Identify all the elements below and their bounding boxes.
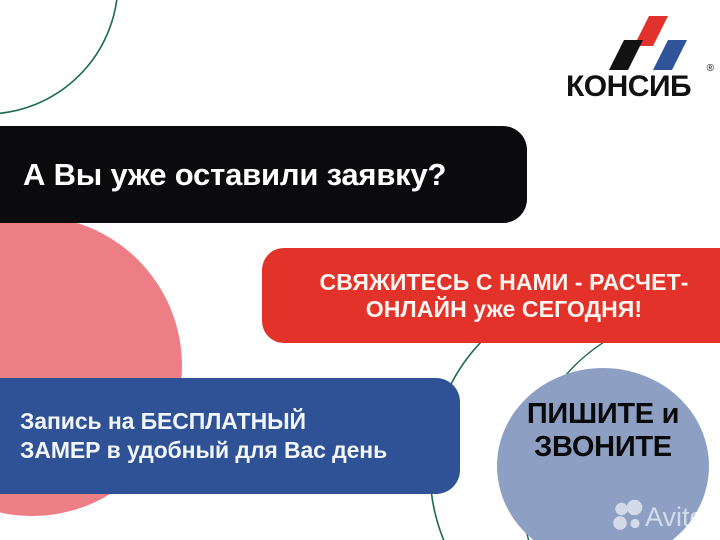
free-measurement-block: Запись на БЕСПЛАТНЫЙ ЗАМЕР в удобный для…	[0, 378, 460, 494]
measure-line-1: Запись на БЕСПЛАТНЫЙ	[20, 407, 440, 436]
headline-block: А Вы уже оставили заявку?	[0, 126, 527, 223]
avito-dots-icon	[613, 500, 642, 530]
brand-wordmark: КОНСИБ	[566, 72, 712, 102]
konsib-parallelogram-mark	[608, 16, 692, 70]
headline-line-1: А Вы уже оставили заявку?	[23, 157, 497, 193]
call-to-action-text: ПИШИТЕ и ЗВОНИТЕ	[497, 398, 709, 464]
avito-watermark: Avito	[612, 500, 716, 532]
avito-wordmark: Avito	[645, 502, 705, 532]
promo-banner: КОНСИБ ® А Вы уже оставили заявку? СВЯЖИ…	[0, 0, 720, 540]
logo-shape-black	[609, 40, 643, 70]
contact-line-1: СВЯЖИТЕСЬ С НАМИ - РАСЧЕТ-	[284, 269, 720, 296]
call-line-1: ПИШИТЕ и	[497, 398, 709, 431]
measure-line-2: ЗАМЕР в удобный для Вас день	[20, 436, 440, 465]
contact-block: СВЯЖИТЕСЬ С НАМИ - РАСЧЕТ- ОНЛАЙН уже СЕ…	[262, 248, 720, 343]
registered-trademark-symbol: ®	[707, 64, 714, 74]
contact-line-2: ОНЛАЙН уже СЕГОДНЯ!	[284, 296, 720, 323]
logo-shape-blue	[653, 40, 687, 70]
green-arc-top-left	[0, 0, 118, 114]
brand-logo: КОНСИБ ®	[566, 16, 712, 104]
call-line-2: ЗВОНИТЕ	[497, 431, 709, 464]
